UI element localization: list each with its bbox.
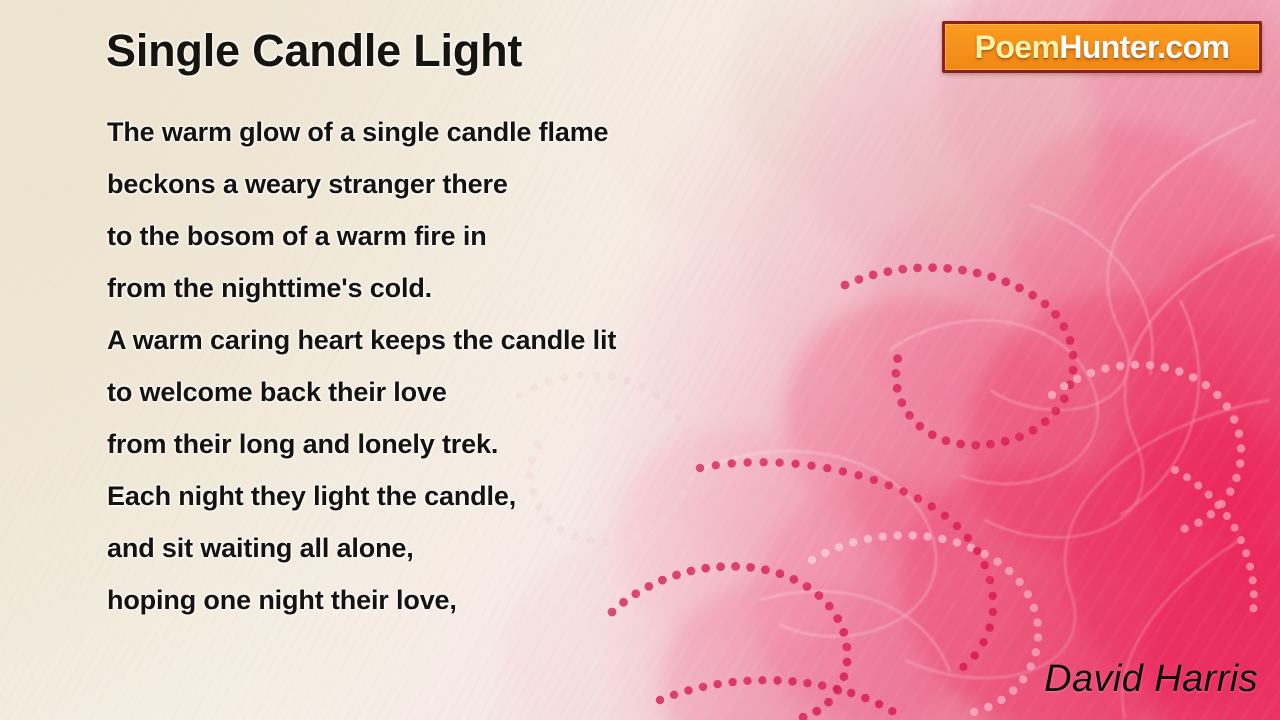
bead-dot <box>981 550 989 558</box>
bead-dot <box>1060 322 1069 331</box>
bead-dot <box>1242 549 1250 557</box>
bead-dot <box>1034 633 1042 641</box>
bead-dot <box>971 441 980 450</box>
bead-dot <box>958 266 967 275</box>
bead-dot <box>699 683 707 691</box>
bead-dot <box>843 658 852 667</box>
bead-dot <box>953 522 961 530</box>
bead-dot <box>1030 604 1038 612</box>
bead-dot <box>1027 662 1035 670</box>
bead-dot <box>928 502 936 510</box>
bead-dot <box>1207 510 1215 518</box>
poem-line: to the bosom of a warm fire in <box>107 210 807 262</box>
bead-curve <box>656 676 897 715</box>
bead-dot <box>893 354 902 363</box>
swirl-thread <box>990 120 1255 410</box>
bead-curve <box>1171 466 1258 612</box>
bead-dot <box>1202 381 1210 389</box>
bead-dot <box>1194 482 1202 490</box>
swirl-thread <box>905 400 1270 678</box>
bead-dot <box>1223 402 1231 410</box>
bead-dot <box>870 476 878 484</box>
bead-dot <box>1217 500 1225 508</box>
swirl-thread <box>1120 300 1199 515</box>
bead-dot <box>973 269 982 278</box>
bead-dot <box>1060 382 1068 390</box>
bead-dot <box>807 462 815 470</box>
poem-text-block: The warm glow of a single candle flamebe… <box>107 106 807 626</box>
bead-dot <box>1213 391 1221 399</box>
poem-line: A warm caring heart keeps the candle lit <box>107 314 807 366</box>
poem-line: to welcome back their love <box>107 366 807 418</box>
bead-dot <box>1024 590 1032 598</box>
bead-dot <box>970 708 978 716</box>
bead-dot <box>818 681 826 689</box>
bead-dot <box>1060 394 1069 403</box>
bead-dot <box>1236 459 1244 467</box>
bead-dot <box>1051 407 1060 416</box>
swirl-thread <box>890 320 1098 484</box>
bead-dot <box>980 561 988 569</box>
bead-dot <box>897 398 906 407</box>
bead-dot <box>1005 567 1013 575</box>
bead-dot <box>1041 417 1050 426</box>
bead-dot <box>953 538 961 546</box>
bead-dot <box>883 267 892 276</box>
bead-dot <box>923 532 931 540</box>
bead-dot <box>835 543 843 551</box>
bead-dot <box>905 411 914 420</box>
bead-dot <box>1087 369 1095 377</box>
bead-dot <box>1171 466 1179 474</box>
petal-shape <box>959 72 1280 439</box>
bead-dot <box>1231 524 1239 532</box>
bead-dot <box>1015 432 1024 441</box>
hot-core-glow <box>740 0 1280 720</box>
poem-line: hoping one night their love, <box>107 574 807 626</box>
bead-dot <box>986 440 995 449</box>
bead-dot <box>864 535 872 543</box>
bead-dot <box>1249 576 1257 584</box>
bead-dot <box>840 672 849 681</box>
bead-dot <box>888 707 896 715</box>
bead-dot <box>847 689 855 697</box>
bead-dot <box>684 686 692 694</box>
bead-dot <box>1249 604 1257 612</box>
bead-dot <box>885 481 893 489</box>
bead-dot <box>1246 563 1254 571</box>
bead-dot <box>788 677 796 685</box>
page-title: Single Candle Light <box>106 28 522 73</box>
bead-dot <box>839 467 847 475</box>
bead-dot <box>1015 578 1023 586</box>
poem-image-card: PoemHunter.com Single Candle Light The w… <box>0 0 1280 720</box>
bead-dot <box>993 558 1001 566</box>
bead-dot <box>914 494 922 502</box>
bead-dot <box>743 677 751 685</box>
bead-dot <box>913 264 922 273</box>
bead-dot <box>1001 437 1010 446</box>
bead-dot <box>986 576 994 584</box>
bead-dot <box>971 651 979 659</box>
bead-dot <box>1001 277 1010 286</box>
bead-dot <box>989 592 997 600</box>
bead-dot <box>849 538 857 546</box>
bead-dot <box>854 471 862 479</box>
bead-dot <box>956 440 965 449</box>
bead-dot <box>1230 415 1238 423</box>
poemhunter-logo-text: PoemHunter.com <box>975 31 1230 63</box>
bead-dot <box>833 685 841 693</box>
bead-dot <box>1131 361 1139 369</box>
bead-curve <box>841 263 1078 449</box>
bead-dot <box>1235 430 1243 438</box>
bead-dot <box>1181 525 1189 533</box>
poem-line: from the nighttime's cold. <box>107 262 807 314</box>
bead-dot <box>861 694 869 702</box>
bead-dot <box>815 591 824 600</box>
bead-dot <box>893 384 902 393</box>
bead-dot <box>1226 487 1234 495</box>
bead-dot <box>1015 284 1024 293</box>
bead-dot <box>758 676 766 684</box>
bead-dot <box>1101 365 1109 373</box>
bead-dot <box>869 271 878 280</box>
bead-dot <box>1051 310 1060 319</box>
bead-dot <box>909 531 917 539</box>
swirl-thread <box>1030 205 1152 375</box>
bead-dot <box>839 628 848 637</box>
bead-dot <box>987 272 996 281</box>
bead-dot <box>1175 367 1183 375</box>
bead-dot <box>938 535 946 543</box>
bead-curve <box>808 531 1043 716</box>
bead-dot <box>1250 590 1258 598</box>
poem-line: and sit waiting all alone, <box>107 522 807 574</box>
bead-curve <box>1048 361 1245 533</box>
bead-dot <box>1019 675 1027 683</box>
logo-segment-hunter: Hunter.com <box>1059 29 1229 65</box>
bead-dot <box>916 422 925 431</box>
bead-dot <box>986 623 994 631</box>
bead-dot <box>928 430 937 439</box>
poemhunter-logo-badge[interactable]: PoemHunter.com <box>942 21 1262 73</box>
bead-dot <box>894 531 902 539</box>
bead-dot <box>943 264 952 273</box>
bead-dot <box>967 543 975 551</box>
bead-dot <box>1048 391 1056 399</box>
bead-dot <box>964 534 972 542</box>
bead-dot <box>841 281 850 290</box>
petal-shape <box>820 140 1160 460</box>
bead-dot <box>1223 512 1231 520</box>
bead-dot <box>1066 380 1075 389</box>
bead-dot <box>1237 444 1245 452</box>
bead-dot <box>834 686 843 695</box>
bead-dot <box>1161 363 1169 371</box>
bead-dot <box>1194 519 1202 527</box>
bead-dot <box>1237 536 1245 544</box>
poem-line: The warm glow of a single candle flame <box>107 106 807 158</box>
petal-shape <box>917 241 1280 620</box>
bead-dot <box>1189 373 1197 381</box>
bead-dot <box>803 679 811 687</box>
bead-dot <box>997 696 1005 704</box>
bead-dot <box>941 512 949 520</box>
bead-dot <box>1232 474 1240 482</box>
bead-dot <box>1033 618 1041 626</box>
bead-dot <box>1032 648 1040 656</box>
bead-dot <box>898 265 907 274</box>
petal-shape <box>1088 215 1280 564</box>
bead-dot <box>812 707 821 716</box>
bead-dot <box>1041 299 1050 308</box>
bead-dot <box>728 678 736 686</box>
author-signature: David Harris <box>1044 660 1258 698</box>
bead-dot <box>1205 491 1213 499</box>
bead-dot <box>1009 686 1017 694</box>
bead-dot <box>984 703 992 711</box>
bead-dot <box>879 533 887 541</box>
poem-line: from their long and lonely trek. <box>107 418 807 470</box>
bead-dot <box>1066 336 1075 345</box>
bead-dot <box>899 487 907 495</box>
bead-dot <box>1073 375 1081 383</box>
bead-dot <box>855 275 864 284</box>
bead-dot <box>825 602 834 611</box>
bead-dot <box>942 436 951 445</box>
bead-dot <box>1029 426 1038 435</box>
bead-dot <box>989 608 997 616</box>
bead-dot <box>928 263 937 272</box>
bead-dot <box>824 698 833 707</box>
bead-dot <box>1214 501 1222 509</box>
bead-dot <box>799 713 808 720</box>
bead-dot <box>842 643 851 652</box>
logo-segment-poem: Poem <box>975 29 1060 65</box>
bead-dot <box>1146 361 1154 369</box>
bead-dot <box>973 547 981 555</box>
bead-dot <box>1116 362 1124 370</box>
swirl-thread <box>985 235 1275 537</box>
bead-dot <box>821 549 829 557</box>
bead-dot <box>833 614 842 623</box>
bead-dot <box>1028 291 1037 300</box>
bead-dot <box>656 696 664 704</box>
bead-dot <box>808 556 816 564</box>
bead-dot <box>959 663 967 671</box>
bead-dot <box>875 700 883 708</box>
bead-dot <box>823 464 831 472</box>
bead-dot <box>773 676 781 684</box>
bead-dot <box>892 369 901 378</box>
bead-dot <box>979 638 987 646</box>
bead-dot <box>1069 366 1078 375</box>
bead-dot <box>1069 351 1078 360</box>
poem-line: Each night they light the candle, <box>107 470 807 522</box>
bead-dot <box>714 680 722 688</box>
bead-dot <box>1183 473 1191 481</box>
bead-dot <box>670 691 678 699</box>
poem-line: beckons a weary stranger there <box>107 158 807 210</box>
